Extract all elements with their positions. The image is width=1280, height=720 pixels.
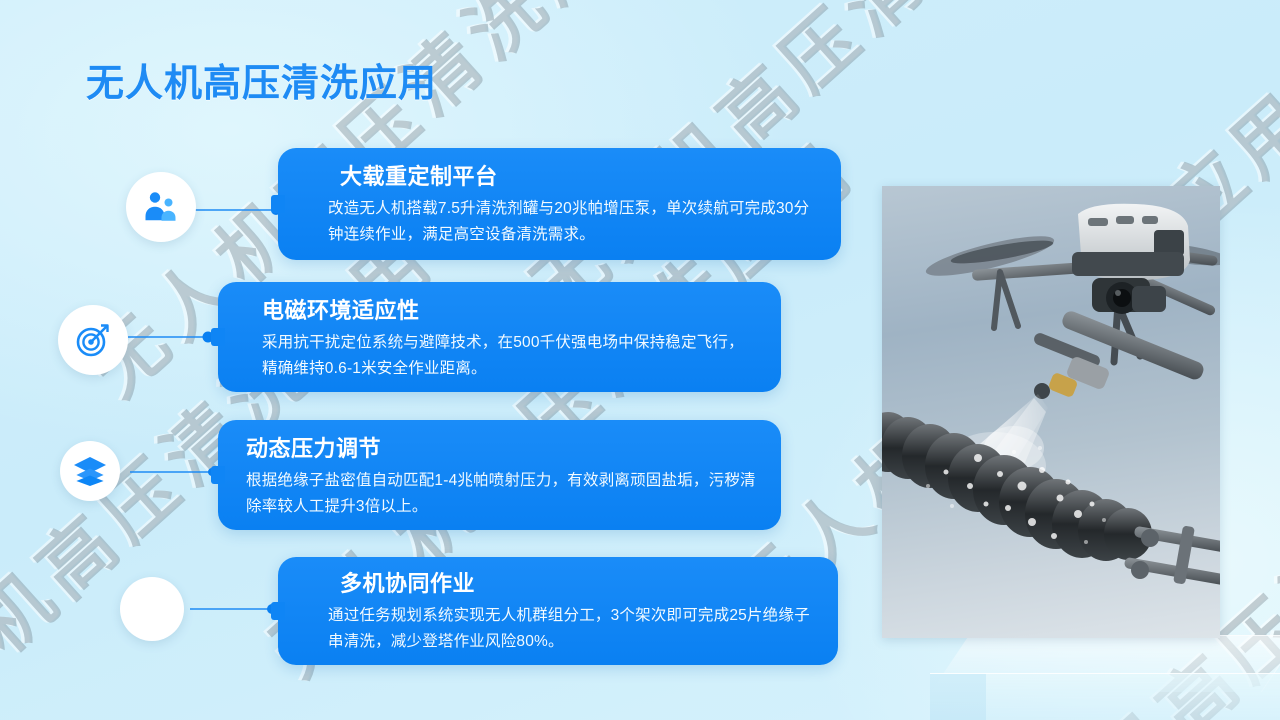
card-description: 根据绝缘子盐密值自动匹配1-4兆帕喷射压力，有效剥离顽固盐垢，污秽清除率较人工提… xyxy=(246,468,757,518)
blank-icon xyxy=(152,609,153,610)
target-icon xyxy=(75,322,111,358)
card-title: 多机协同作业 xyxy=(340,571,814,597)
icon-bubble-4[interactable] xyxy=(120,577,184,641)
icon-bubble-2[interactable] xyxy=(58,305,128,375)
card-description: 通过任务规划系统实现无人机群组分工，3个架次即可完成25片绝缘子串清洗，减少登塔… xyxy=(328,603,814,653)
page-title: 无人机高压清洗应用 xyxy=(86,52,437,107)
users-icon xyxy=(143,190,179,224)
card-title: 电磁环境适应性 xyxy=(262,298,757,324)
card-description: 改造无人机搭载7.5升清洗剂罐与20兆帕增压泵，单次续航可完成30分钟连续作业，… xyxy=(328,196,817,246)
drone-cleaning-photo xyxy=(882,186,1220,638)
feature-card-4[interactable]: 多机协同作业 通过任务规划系统实现无人机群组分工，3个架次即可完成25片绝缘子串… xyxy=(278,557,838,665)
card-title: 大载重定制平台 xyxy=(340,164,817,190)
photo-illustration xyxy=(882,186,1220,638)
card-title: 动态压力调节 xyxy=(246,436,757,462)
feature-card-1[interactable]: 大载重定制平台 改造无人机搭载7.5升清洗剂罐与20兆帕增压泵，单次续航可完成3… xyxy=(278,148,841,260)
icon-bubble-1[interactable] xyxy=(126,172,196,242)
icon-bubble-3[interactable] xyxy=(60,441,120,501)
card-description: 采用抗干扰定位系统与避障技术，在500千伏强电场中保持稳定飞行，精确维持0.6-… xyxy=(262,330,757,380)
feature-card-3[interactable]: 动态压力调节 根据绝缘子盐密值自动匹配1-4兆帕喷射压力，有效剥离顽固盐垢，污秽… xyxy=(218,420,781,530)
feature-card-2[interactable]: 电磁环境适应性 采用抗干扰定位系统与避障技术，在500千伏强电场中保持稳定飞行，… xyxy=(218,282,781,392)
layers-icon xyxy=(73,456,107,486)
slide-canvas: 无人机高压清洗应用 无人机高压清洗应用 无人机高压清洗应用 无人机高压清洗应用 … xyxy=(0,0,1280,720)
